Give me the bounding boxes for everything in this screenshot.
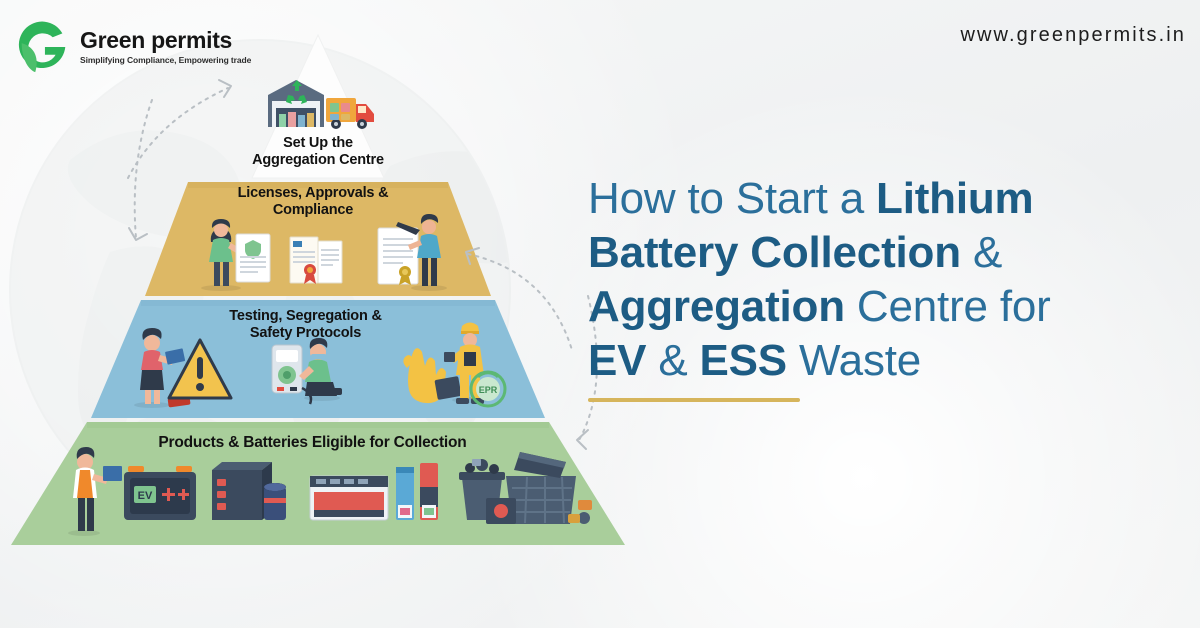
- tier-3-label-line2: Safety Protocols: [163, 325, 448, 342]
- tier-2-label-line1: Licenses, Approvals &: [193, 185, 433, 202]
- headline-l4-plain-a: &: [646, 336, 699, 385]
- headline-line-2: Battery Collection &: [588, 226, 1188, 280]
- headline-l3-bold: Aggregation: [588, 282, 845, 331]
- tier-1-label-line2: Aggregation Centre: [218, 152, 418, 169]
- headline-l1-bold: Lithium: [876, 174, 1033, 223]
- headline-line-1: How to Start a Lithium: [588, 172, 1188, 226]
- tier-3-label-line1: Testing, Segregation &: [163, 308, 448, 325]
- tier-1-label-line1: Set Up the: [218, 135, 418, 152]
- svg-text:EV: EV: [138, 490, 153, 502]
- process-pyramid: EPR EV: [0, 0, 660, 600]
- tier-4-label-line1: Products & Batteries Eligible for Collec…: [100, 434, 525, 452]
- epr-badge-icon: EPR: [471, 372, 505, 406]
- tier-2-label-line2: Compliance: [193, 202, 433, 219]
- headline-underline-rule: [588, 398, 800, 402]
- ev-battery-icon: EV: [124, 466, 196, 520]
- arrow-head-down-left: [129, 228, 147, 240]
- tier-4-label: Products & Batteries Eligible for Collec…: [100, 434, 525, 452]
- headline-l4-bold-b: ESS: [700, 336, 787, 385]
- headline-l1-plain: How to Start a: [588, 174, 876, 223]
- tier-2-label: Licenses, Approvals & Compliance: [193, 185, 433, 219]
- headline-l4-plain-b: Waste: [787, 336, 921, 385]
- page-title: How to Start a Lithium Battery Collectio…: [588, 172, 1188, 388]
- headline-l2-plain: &: [961, 228, 1002, 277]
- certificate-icon: [290, 237, 342, 284]
- headline-l3-plain: Centre for: [845, 282, 1051, 331]
- svg-text:EPR: EPR: [479, 385, 498, 395]
- site-url[interactable]: www.greenpermits.in: [960, 24, 1186, 47]
- headline-l2-bold: Battery Collection: [588, 228, 961, 277]
- headline-l4-bold-a: EV: [588, 336, 646, 385]
- tier-1-label: Set Up the Aggregation Centre: [218, 135, 418, 169]
- arrow-head-up-right: [219, 80, 231, 97]
- tier-3-label: Testing, Segregation & Safety Protocols: [163, 308, 448, 342]
- arrow-head-down: [577, 430, 588, 449]
- car-battery-icon: [310, 476, 388, 520]
- headline-line-4: EV & ESS Waste: [588, 334, 1188, 388]
- stamped-document-icon: [378, 222, 420, 285]
- left-dashed-arrow-down: [135, 100, 152, 238]
- headline-line-3: Aggregation Centre for: [588, 280, 1188, 334]
